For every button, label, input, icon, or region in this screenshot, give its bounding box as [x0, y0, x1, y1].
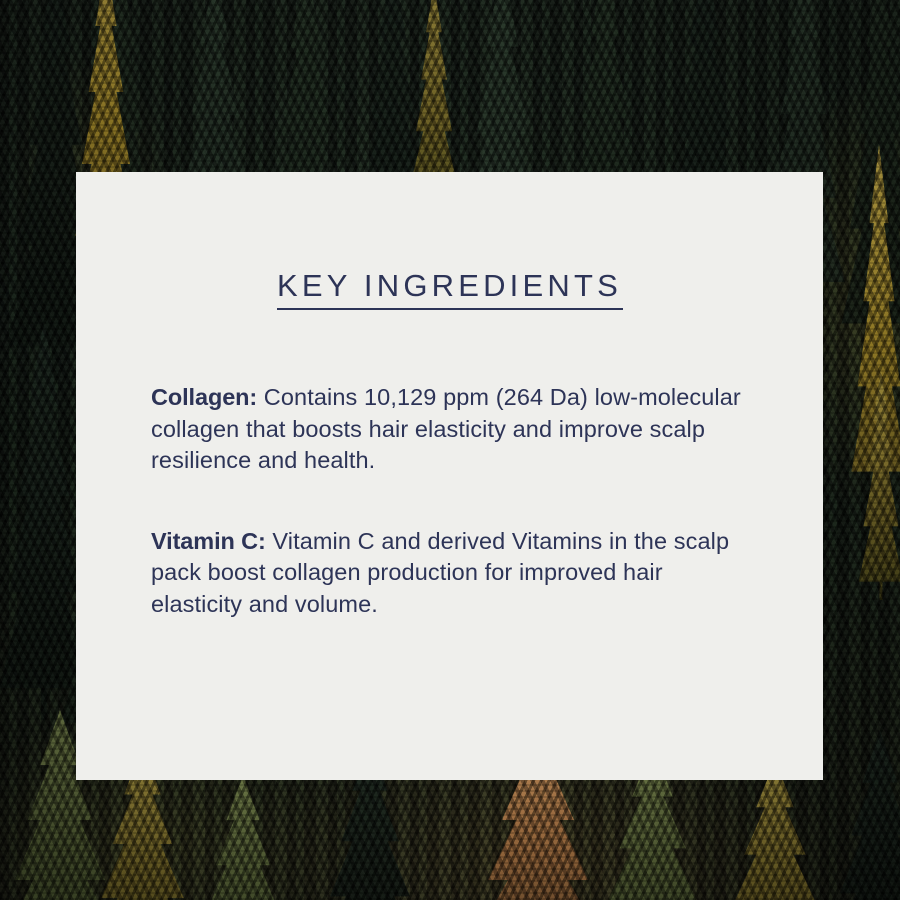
ingredient-card-image: KEY INGREDIENTS Collagen: Contains 10,12…: [0, 0, 900, 900]
ingredient-name-vitamin-c: Vitamin C:: [151, 528, 266, 554]
ingredient-name-collagen: Collagen:: [151, 384, 257, 410]
title-underline-rule: [277, 308, 623, 310]
ingredients-list: Collagen: Contains 10,129 ppm (264 Da) l…: [151, 382, 759, 620]
page-title: KEY INGREDIENTS: [76, 270, 823, 301]
ingredient-paragraph-collagen: Collagen: Contains 10,129 ppm (264 Da) l…: [151, 382, 759, 477]
key-ingredients-card: KEY INGREDIENTS Collagen: Contains 10,12…: [76, 172, 823, 780]
ingredient-paragraph-vitamin-c: Vitamin C: Vitamin C and derived Vitamin…: [151, 526, 759, 621]
